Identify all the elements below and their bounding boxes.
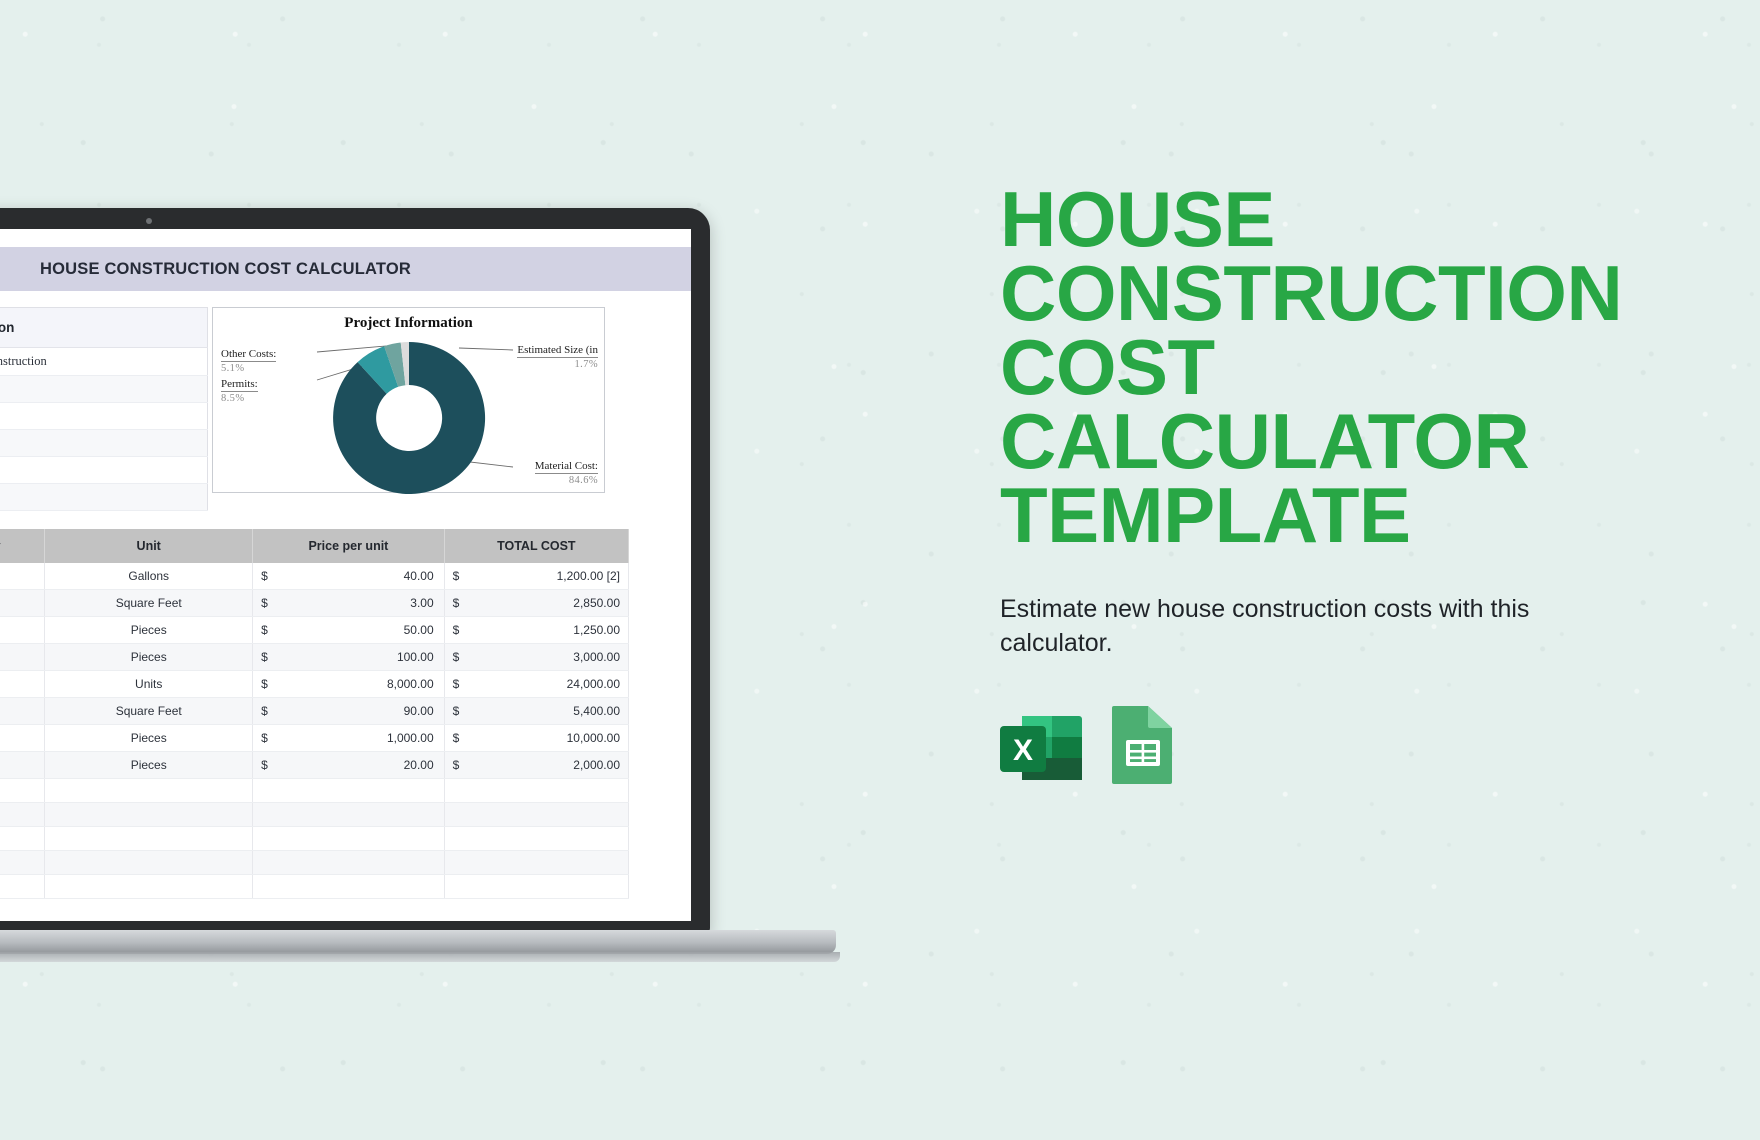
cell-total-cost[interactable] <box>444 875 628 899</box>
headline-line-1: HOUSE <box>1000 182 1720 256</box>
cell-price-per-unit[interactable]: $3.00 <box>253 590 445 617</box>
currency-symbol: $ <box>453 650 460 664</box>
table-row[interactable]: Paint30Gallons$40.00$1,200.00 [2] <box>0 563 629 590</box>
cell-quantity[interactable] <box>0 875 45 899</box>
materials-header-row: Material Quantity Unit Price per unit TO… <box>0 529 629 563</box>
chart-title: Project Information <box>213 315 604 332</box>
chart-label-percent: 5.1% <box>221 363 276 374</box>
column-header-total-cost[interactable]: TOTAL COST <box>444 529 628 563</box>
project-row-value[interactable]: $49,700.00 [1] <box>0 430 208 457</box>
table-row[interactable] <box>0 827 629 851</box>
table-row[interactable]: untertops60Square Feet$90.00$5,400.00 <box>0 698 629 725</box>
laptop-mockup: HOUSE CONSTRUCTION COST CALCULATOR Proje… <box>0 208 950 950</box>
table-row[interactable]: $3,000.00 <box>0 484 208 511</box>
cell-quantity[interactable]: 60 <box>0 698 45 725</box>
chart-label-text: Estimated Size (in <box>517 344 598 358</box>
currency-symbol: $ <box>261 758 268 772</box>
cell-total-cost[interactable]: $2,850.00 <box>444 590 628 617</box>
laptop-foot <box>0 952 840 962</box>
currency-symbol: $ <box>261 731 268 745</box>
headline-line-4: CALCULATOR <box>1000 404 1720 478</box>
currency-symbol: $ <box>453 731 460 745</box>
cell-unit[interactable]: Square Feet <box>45 590 253 617</box>
promo-panel: HOUSE CONSTRUCTION COST CALCULATOR TEMPL… <box>1000 182 1720 784</box>
cell-price-per-unit[interactable]: $100.00 <box>253 644 445 671</box>
cell-quantity[interactable] <box>0 851 45 875</box>
cell-quantity[interactable] <box>0 779 45 803</box>
table-row[interactable]: Cabinets3Units$8,000.00$24,000.00 <box>0 671 629 698</box>
cell-price-per-unit[interactable] <box>253 779 445 803</box>
table-row[interactable] <box>0 851 629 875</box>
cell-unit[interactable] <box>45 803 253 827</box>
cell-unit[interactable]: Units <box>45 671 253 698</box>
currency-symbol: $ <box>453 596 460 610</box>
table-row[interactable] <box>0 779 629 803</box>
cell-unit[interactable] <box>45 779 253 803</box>
cell-total-cost[interactable]: $3,000.00 <box>444 644 628 671</box>
project-row-value[interactable]: $3,000.00 <box>0 484 208 511</box>
cell-unit[interactable]: Pieces <box>45 617 253 644</box>
currency-symbol: $ <box>453 758 460 772</box>
cell-unit[interactable] <box>45 875 253 899</box>
cell-unit[interactable]: Pieces <box>45 644 253 671</box>
project-information-table: Project Information 1 Story House Constr… <box>0 307 208 511</box>
excel-icon[interactable]: X <box>1000 712 1082 784</box>
table-row[interactable]: $5,000.00 <box>0 457 208 484</box>
currency-symbol: $ <box>453 704 460 718</box>
table-row[interactable]: ppliances10Pieces$1,000.00$10,000.00 <box>0 725 629 752</box>
table-row[interactable]: and Accessories100Pieces$20.00$2,000.00 <box>0 752 629 779</box>
cell-quantity[interactable]: 950 <box>0 590 45 617</box>
currency-symbol: $ <box>261 650 268 664</box>
materials-table: Material Quantity Unit Price per unit TO… <box>0 529 629 899</box>
chart-label-other-costs: Other Costs: 5.1% <box>221 344 276 374</box>
laptop-base <box>0 930 836 954</box>
cell-price-per-unit[interactable]: $90.00 <box>253 698 445 725</box>
cell-total-cost[interactable]: $24,000.00 <box>444 671 628 698</box>
cell-unit[interactable]: Square Feet <box>45 698 253 725</box>
cell-price-per-unit[interactable]: $8,000.00 <box>253 671 445 698</box>
currency-symbol: $ <box>261 677 268 691</box>
cell-unit[interactable]: Gallons <box>45 563 253 590</box>
cell-price-per-unit[interactable]: $20.00 <box>253 752 445 779</box>
currency-symbol: $ <box>453 677 460 691</box>
donut-slices <box>333 342 485 494</box>
cell-unit[interactable]: Pieces <box>45 725 253 752</box>
headline-line-2: CONSTRUCTION <box>1000 256 1720 330</box>
table-row[interactable]: square ft): 1000 <box>0 376 208 403</box>
cell-quantity[interactable]: 25 <box>0 617 45 644</box>
chart-label-permits: Permits: 8.5% <box>221 374 258 404</box>
cell-unit[interactable] <box>45 851 253 875</box>
chart-label-text: Material Cost: <box>535 460 598 474</box>
project-info-header-row: Project Information <box>0 308 208 348</box>
slice-material-cost <box>333 342 485 494</box>
spreadsheet: HOUSE CONSTRUCTION COST CALCULATOR Proje… <box>0 247 691 921</box>
cell-total-cost[interactable] <box>444 827 628 851</box>
chart-label-text: Other Costs: <box>221 348 276 362</box>
promo-subtitle: Estimate new house construction costs wi… <box>1000 592 1540 660</box>
webcam-icon <box>146 218 152 224</box>
project-row-value[interactable]: $5,000.00 <box>0 457 208 484</box>
cell-quantity[interactable]: 3 <box>0 671 45 698</box>
chart-label-material-cost: Material Cost: 84.6% <box>535 456 598 486</box>
chart-label-percent: 8.5% <box>221 393 258 404</box>
upper-section: Project Information 1 Story House Constr… <box>0 307 691 511</box>
cell-total-cost[interactable]: $1,200.00 [2] <box>444 563 628 590</box>
chart-label-estimated-size: Estimated Size (in 1.7% <box>517 340 598 370</box>
chart-label-percent: 1.7% <box>517 359 598 370</box>
table-row[interactable]: Flooring950Square Feet$3.00$2,850.00 <box>0 590 629 617</box>
cell-total-cost[interactable] <box>444 779 628 803</box>
laptop-screen: HOUSE CONSTRUCTION COST CALCULATOR Proje… <box>0 229 691 921</box>
materials-body: Paint30Gallons$40.00$1,200.00 [2]Floorin… <box>0 563 629 899</box>
table-row[interactable] <box>0 875 629 899</box>
chart-label-text: Permits: <box>221 378 258 392</box>
project-row-value[interactable]: $45.00 <box>0 403 208 430</box>
cell-total-cost[interactable] <box>444 803 628 827</box>
table-row[interactable]: ing Fixtures25Pieces$50.00$1,250.00 <box>0 617 629 644</box>
headline-line-3: COST <box>1000 330 1720 404</box>
spreadsheet-title-bar: HOUSE CONSTRUCTION COST CALCULATOR <box>0 247 691 291</box>
cell-price-per-unit[interactable] <box>253 827 445 851</box>
currency-symbol: $ <box>453 623 460 637</box>
currency-symbol: $ <box>261 623 268 637</box>
cell-quantity[interactable]: 30 <box>0 644 45 671</box>
project-information-chart: Project Information <box>212 307 605 493</box>
currency-symbol: $ <box>261 704 268 718</box>
cell-total-cost[interactable]: $1,250.00 <box>444 617 628 644</box>
table-row[interactable]: 1 Story House Construction <box>0 348 208 376</box>
cell-total-cost[interactable]: $2,000.00 <box>444 752 628 779</box>
cell-price-per-unit[interactable]: $1,000.00 <box>253 725 445 752</box>
chart-label-percent: 84.6% <box>535 475 598 486</box>
table-row[interactable]: $49,700.00 [1] <box>0 430 208 457</box>
cell-quantity[interactable]: 100 <box>0 752 45 779</box>
project-row-value[interactable]: 1000 <box>0 376 208 403</box>
cell-quantity[interactable]: 30 <box>0 563 45 590</box>
table-row[interactable] <box>0 803 629 827</box>
currency-symbol: $ <box>453 569 460 583</box>
table-row[interactable]: are ft: $45.00 <box>0 403 208 430</box>
cell-quantity[interactable] <box>0 827 45 851</box>
cell-total-cost[interactable]: $5,400.00 <box>444 698 628 725</box>
file-format-icons: X <box>1000 704 1720 784</box>
column-header-quantity[interactable]: Quantity <box>0 529 45 563</box>
project-row-value[interactable]: 1 Story House Construction <box>0 348 208 376</box>
svg-text:X: X <box>1013 734 1033 767</box>
table-row[interactable]: bing Fixtures30Pieces$100.00$3,000.00 <box>0 644 629 671</box>
cell-price-per-unit[interactable] <box>253 875 445 899</box>
currency-symbol: $ <box>261 596 268 610</box>
cell-unit[interactable]: Pieces <box>45 752 253 779</box>
column-header-unit[interactable]: Unit <box>45 529 253 563</box>
headline-line-5: TEMPLATE <box>1000 478 1720 552</box>
laptop-lid: HOUSE CONSTRUCTION COST CALCULATOR Proje… <box>0 208 710 934</box>
cell-price-per-unit[interactable] <box>253 803 445 827</box>
cell-total-cost[interactable]: $10,000.00 <box>444 725 628 752</box>
cell-quantity[interactable] <box>0 803 45 827</box>
google-sheets-icon[interactable] <box>1108 704 1178 784</box>
column-header-price[interactable]: Price per unit <box>253 529 445 563</box>
promo-headline: HOUSE CONSTRUCTION COST CALCULATOR TEMPL… <box>1000 182 1720 552</box>
cell-price-per-unit[interactable]: $40.00 <box>253 563 445 590</box>
page-title: HOUSE CONSTRUCTION COST CALCULATOR <box>40 260 411 279</box>
project-info-header: Project Information <box>0 308 208 348</box>
cell-quantity[interactable]: 10 <box>0 725 45 752</box>
currency-symbol: $ <box>261 569 268 583</box>
cell-unit[interactable] <box>45 827 253 851</box>
cell-price-per-unit[interactable] <box>253 851 445 875</box>
cell-total-cost[interactable] <box>444 851 628 875</box>
cell-price-per-unit[interactable]: $50.00 <box>253 617 445 644</box>
